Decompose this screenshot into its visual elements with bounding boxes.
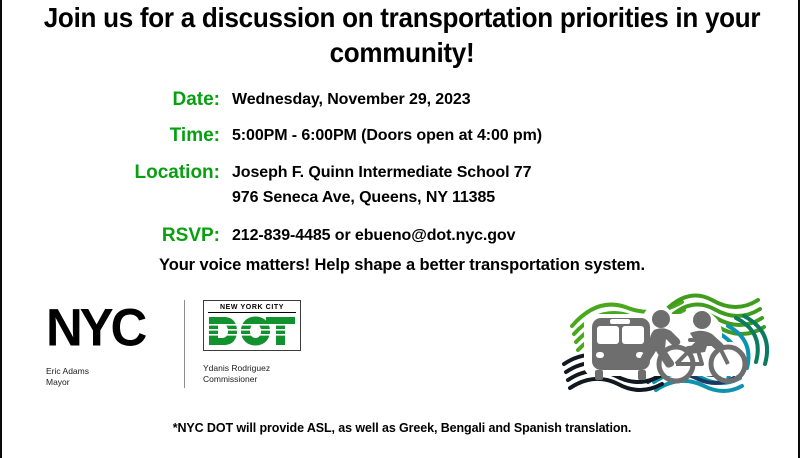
agency-logo-band: NYC Eric Adams Mayor NEW YORK CITY (46, 300, 323, 388)
dot-logo: NEW YORK CITY (203, 300, 323, 385)
detail-label-time: Time: (2, 124, 232, 148)
transportation-modes-graphic (550, 286, 774, 408)
nyc-official-caption: Eric Adams Mayor (46, 366, 176, 388)
detail-row-location: Location: Joseph F. Quinn Intermediate S… (2, 160, 800, 210)
dot-official-caption: Ydanis Rodriguez Commissioner (203, 363, 323, 385)
dot-logo-top-line: NEW YORK CITY (208, 304, 296, 313)
detail-row-date: Date: Wednesday, November 29, 2023 (2, 88, 800, 112)
detail-value-location: Joseph F. Quinn Intermediate School 77 9… (232, 160, 531, 210)
detail-value-rsvp: 212-839-4485 or ebueno@dot.nyc.gov (232, 224, 515, 248)
detail-label-date: Date: (2, 88, 232, 112)
detail-label-rsvp: RSVP: (2, 224, 232, 248)
event-details-list: Date: Wednesday, November 29, 2023 Time:… (2, 88, 800, 260)
detail-row-time: Time: 5:00PM - 6:00PM (Doors open at 4:0… (2, 124, 800, 148)
footnote-text: *NYC DOT will provide ASL, as well as Gr… (2, 421, 800, 435)
flyer-canvas: Join us for a discussion on transportati… (0, 0, 800, 458)
logo-divider (184, 300, 185, 388)
nyc-wordmark: NYC (46, 300, 181, 356)
page-title: Join us for a discussion on transportati… (30, 0, 774, 70)
detail-value-time: 5:00PM - 6:00PM (Doors open at 4:00 pm) (232, 124, 542, 148)
nyc-logo: NYC Eric Adams Mayor (46, 300, 176, 388)
dot-wordmark-icon (208, 316, 296, 346)
detail-row-rsvp: RSVP: 212-839-4485 or ebueno@dot.nyc.gov (2, 224, 800, 248)
dot-logo-mark: NEW YORK CITY (203, 300, 301, 351)
tagline-text: Your voice matters! Help shape a better … (2, 256, 800, 275)
detail-value-date: Wednesday, November 29, 2023 (232, 88, 471, 112)
detail-label-location: Location: (2, 160, 232, 185)
